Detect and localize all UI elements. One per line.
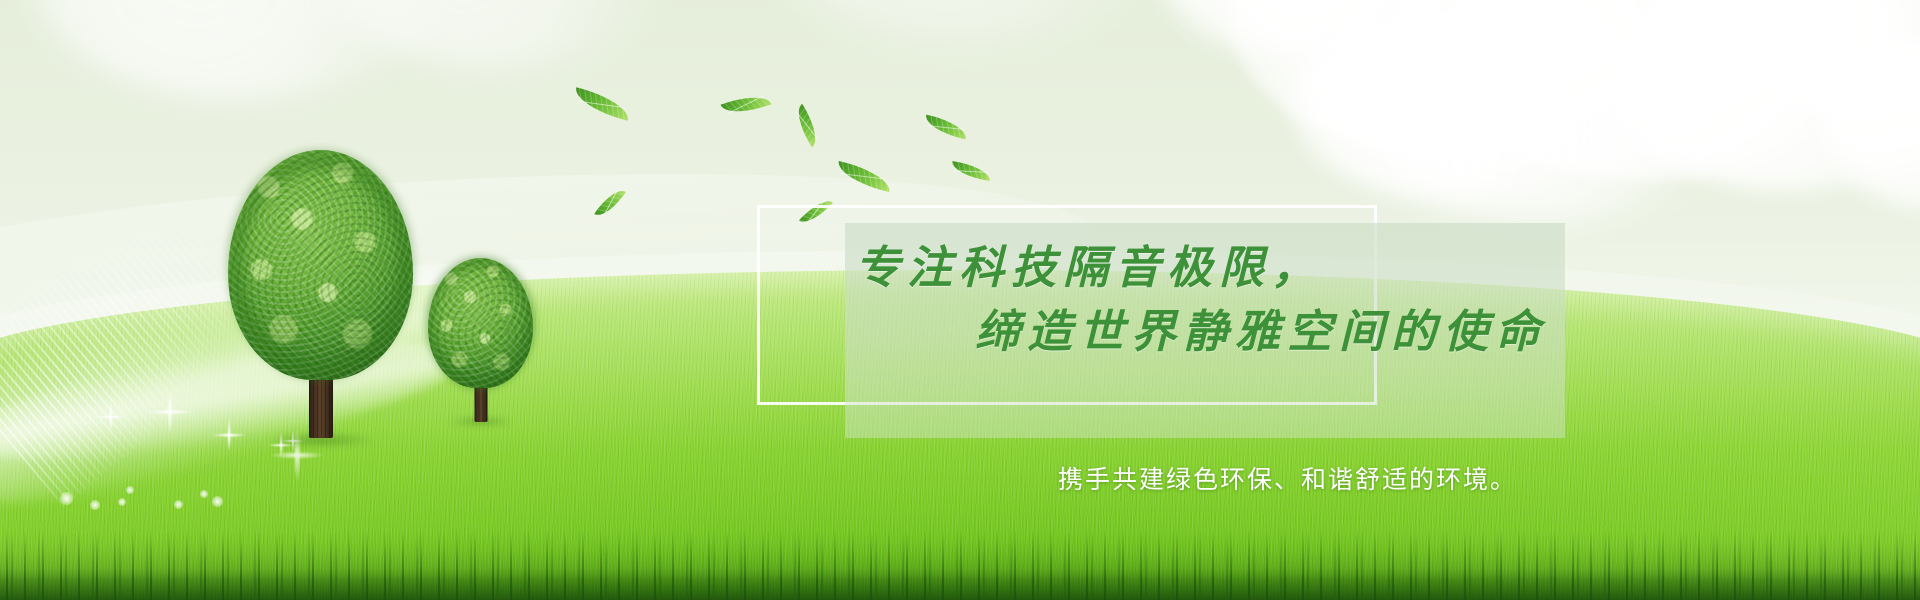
grass-tuft — [700, 558, 770, 600]
grass-tuft — [900, 558, 970, 600]
tree-canopy-edge — [222, 144, 419, 386]
sparkle-dot-icon — [126, 486, 134, 494]
hero-banner: 专注科技隔音极限， 缔造世界静雅空间的使命 携手共建绿色环保、和谐舒适的环境。 — [0, 0, 1920, 600]
grass-tuft — [110, 558, 180, 600]
cloud-icon — [1380, 70, 1710, 220]
grass-tuft — [1460, 558, 1530, 600]
headline-line-2: 缔造世界静雅空间的使命 — [845, 300, 1585, 364]
sparkle-dot-icon — [90, 500, 100, 510]
headline-line-1: 专注科技隔音极限， — [845, 236, 1585, 300]
cloud-icon — [760, 0, 1180, 40]
grass-tuft — [560, 558, 630, 600]
sparkle-dot-icon — [212, 496, 223, 507]
sparkle-dot-icon — [200, 490, 208, 498]
tree-canopy-edge — [422, 252, 539, 394]
sparkle-dot-icon — [60, 492, 73, 505]
grass-tuft — [1280, 558, 1350, 600]
headline: 专注科技隔音极限， 缔造世界静雅空间的使命 — [845, 236, 1585, 364]
grass-tuft — [320, 558, 390, 600]
tree-large — [228, 150, 413, 380]
tree-small — [428, 258, 533, 388]
grass-tuft — [1820, 558, 1890, 600]
grass-tuft — [1080, 558, 1150, 600]
sparkle-dot-icon — [174, 500, 183, 509]
grass-tuft — [1640, 558, 1710, 600]
sparkle-dot-icon — [118, 498, 126, 506]
subtitle: 携手共建绿色环保、和谐舒适的环境。 — [1058, 460, 1517, 496]
